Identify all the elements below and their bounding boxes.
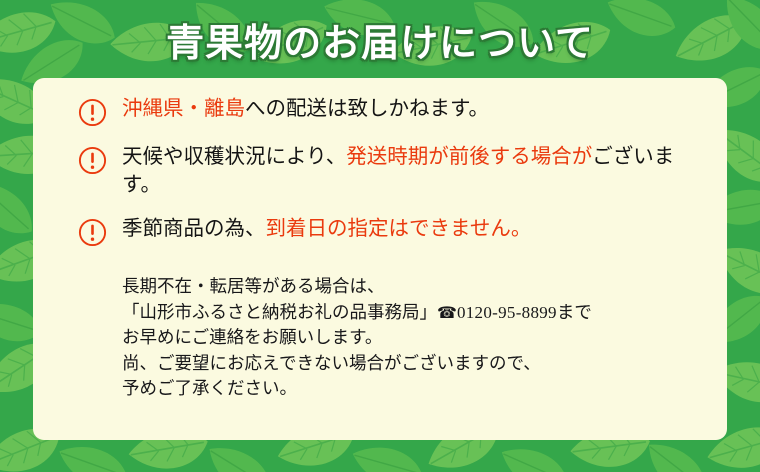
notice-text-highlight: 発送時期が前後する場合が — [346, 146, 592, 168]
footer-line-2-suffix: まで — [557, 302, 592, 322]
list-item: 季節商品の為、到着日の指定はできません。 — [78, 216, 698, 247]
notice-card: 沖縄県・離島への配送は致しかねます。 天候や収穫状況により、発送時期が前後する場… — [33, 78, 727, 440]
list-item: 沖縄県・離島への配送は致しかねます。 — [78, 96, 698, 127]
footer-line-1: 長期不在・転居等がある場合は、 — [122, 274, 722, 300]
notice-text-highlight: 沖縄県・離島 — [122, 98, 245, 120]
telephone-icon: ☎ — [437, 303, 457, 322]
list-item: 天候や収穫状況により、発送時期が前後する場合がございます。 — [78, 144, 698, 199]
notice-text: 沖縄県・離島への配送は致しかねます。 — [122, 96, 489, 124]
phone-number: 0120-95-8899 — [457, 303, 557, 322]
footer-line-4: 尚、ご要望にお応えできない場合がございますので、 — [122, 351, 722, 377]
notice-list: 沖縄県・離島への配送は致しかねます。 天候や収穫状況により、発送時期が前後する場… — [78, 96, 698, 247]
notice-text-highlight: 到着日の指定はできません。 — [266, 218, 532, 240]
page-title: 青果物のお届けについて — [0, 0, 760, 78]
exclamation-circle-icon — [78, 146, 107, 175]
footer-note: 長期不在・転居等がある場合は、 「山形市ふるさと納税お礼の品事務局」☎0120-… — [122, 274, 722, 402]
exclamation-circle-icon — [78, 98, 107, 127]
footer-line-5: 予めご了承ください。 — [122, 376, 722, 402]
notice-text-plain: 天候や収穫状況により、 — [122, 146, 346, 168]
notice-text: 季節商品の為、到着日の指定はできません。 — [122, 216, 531, 244]
footer-line-3: お早めにご連絡をお願いします。 — [122, 325, 722, 351]
footer-office-name: 「山形市ふるさと納税お礼の品事務局」 — [122, 302, 437, 322]
exclamation-circle-icon — [78, 218, 107, 247]
footer-line-2: 「山形市ふるさと納税お礼の品事務局」☎0120-95-8899まで — [122, 300, 722, 326]
notice-text: 天候や収穫状況により、発送時期が前後する場合がございます。 — [122, 144, 698, 199]
notice-text-plain: 季節商品の為、 — [122, 218, 266, 240]
notice-text-plain: への配送は致しかねます。 — [245, 98, 489, 120]
